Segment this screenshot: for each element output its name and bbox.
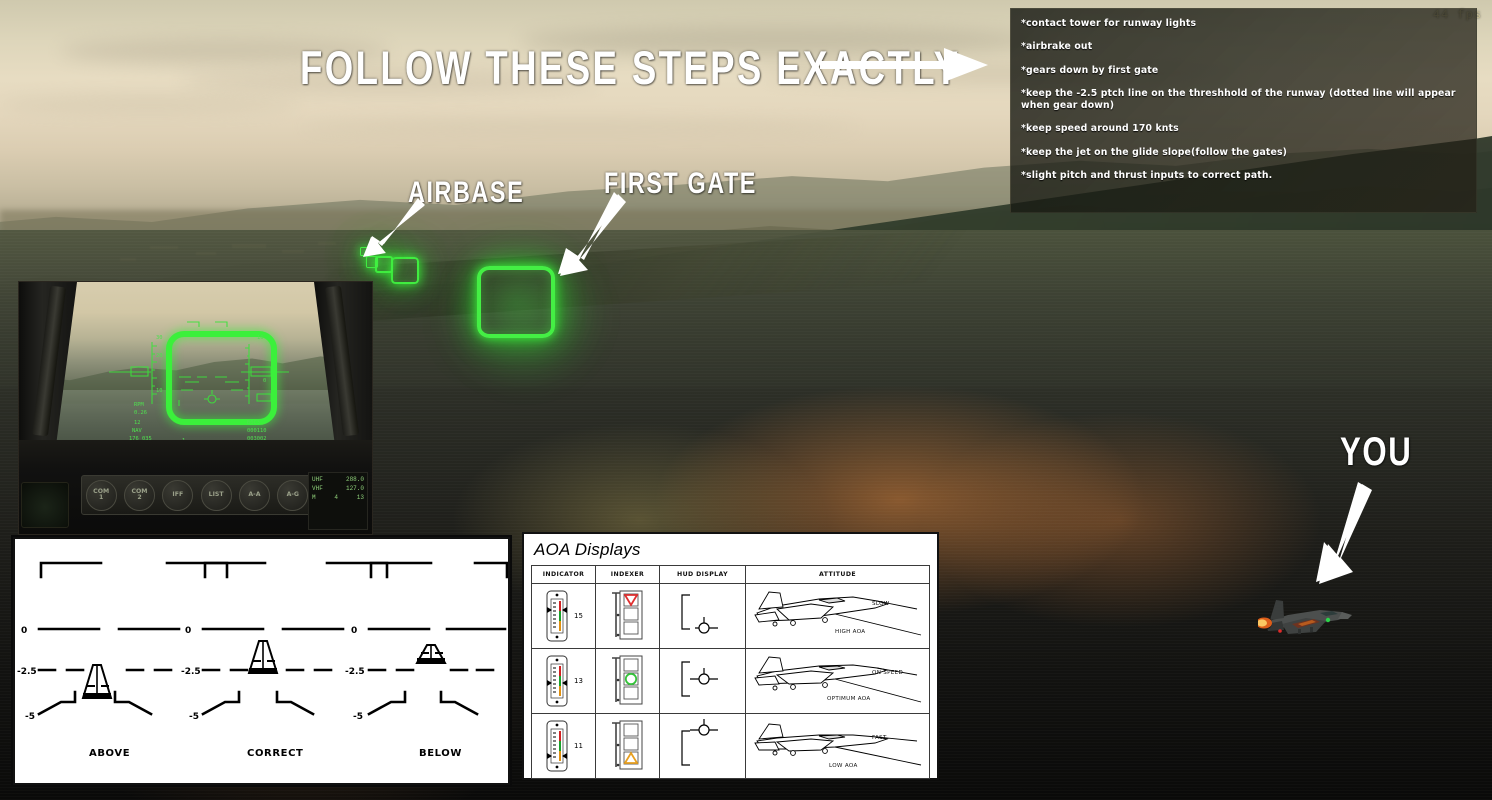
aoa-indexer-lights <box>608 717 648 771</box>
uhf-label: UHF <box>312 476 323 483</box>
svg-text:20: 20 <box>156 353 163 359</box>
annotation-airbase: AIRBASE <box>408 176 524 210</box>
aoa-indicator-cell: 13 <box>532 649 596 714</box>
svg-text:-5: -5 <box>353 712 363 722</box>
instruction-item: *contact tower for runway lights <box>1021 18 1466 30</box>
aoa-indicator-value: 11 <box>574 742 583 750</box>
aoa-indicator-cell: 15 <box>532 584 596 649</box>
nav-gate-4 <box>366 256 378 268</box>
aoa-panel-title: AOA Displays <box>534 540 930 560</box>
svg-text:-2.5: -2.5 <box>181 667 201 677</box>
cloud <box>0 96 300 114</box>
annotation-first-gate: FIRST GATE <box>604 167 757 201</box>
player-aircraft-f16 <box>1258 588 1354 650</box>
aoa-attitude-cell: FAST LOW AOA <box>746 714 930 779</box>
aoa-hud-bracket <box>668 717 738 771</box>
aoa-attitude-cell: ON SPEED OPTIMUM AOA <box>746 649 930 714</box>
aoa-table: INDICATOR INDEXER HUD DISPLAY ATTITUDE <box>531 565 930 779</box>
ufc-button-line1: A-A <box>248 492 260 499</box>
instruction-item: *keep speed around 170 knts <box>1021 123 1466 135</box>
glideslope-case-above: ABOVE <box>89 748 130 759</box>
aoa-displays-panel: AOA Displays INDICATOR INDEXER HUD DISPL… <box>522 532 939 780</box>
aoa-col-indicator: INDICATOR <box>532 566 596 584</box>
vhf-label: VHF <box>312 485 323 492</box>
nav-gate-5 <box>360 247 369 256</box>
aoa-indicator-cell: 11 <box>532 714 596 779</box>
aoa-indexer-cell <box>596 584 660 649</box>
aoa-indicator-gauge <box>544 590 570 642</box>
aoa-hud-bracket <box>668 652 738 706</box>
aoa-attitude-cell: SLOW HIGH AOA <box>746 584 930 649</box>
aoa-indexer-cell <box>596 714 660 779</box>
radio-mode-chan: 4 <box>334 494 338 501</box>
cloud <box>300 120 860 134</box>
ufc-button-com2[interactable]: COM 2 <box>124 480 155 511</box>
svg-text:0: 0 <box>185 626 191 636</box>
glideslope-case-below: BELOW <box>419 748 462 759</box>
attitude-primary-label: FAST <box>872 735 887 741</box>
attitude-secondary-label: HIGH AOA <box>835 629 865 635</box>
aoa-table-row: 15 <box>532 584 930 649</box>
aoa-table-header-row: INDICATOR INDEXER HUD DISPLAY ATTITUDE <box>532 566 930 584</box>
radio-mode-label: M <box>312 494 316 501</box>
svg-text:-2.5: -2.5 <box>17 667 37 677</box>
ufc-button-com1[interactable]: COM 1 <box>86 480 117 511</box>
aoa-indicator-value: 15 <box>574 612 583 620</box>
runway-symbol-above <box>83 665 111 698</box>
nav-gate-2 <box>391 257 419 284</box>
nav-gate-first <box>477 266 555 338</box>
glideslope-diagram-panel: 0 0 0 -2.5 -2.5 -2.5 -5 -5 -5 ABOVE CORR… <box>13 537 510 785</box>
annotation-you: YOU <box>1340 430 1412 475</box>
ufc-button-line2: 2 <box>137 495 141 502</box>
svg-text:0: 0 <box>21 626 27 636</box>
svg-text:RPM: RPM <box>134 402 144 408</box>
aoa-indicator-value: 13 <box>574 677 583 685</box>
instruction-item: *slight pitch and thrust inputs to corre… <box>1021 170 1466 182</box>
attitude-primary-label: ON SPEED <box>872 670 903 676</box>
glideslope-case-correct: CORRECT <box>247 748 303 759</box>
aoa-indexer-cell <box>596 649 660 714</box>
instruction-item: *airbrake out <box>1021 41 1466 53</box>
aoa-hud-cell <box>660 584 746 649</box>
left-mfd[interactable] <box>21 482 69 528</box>
aoa-hud-cell <box>660 649 746 714</box>
aoa-indicator-gauge <box>544 655 570 707</box>
svg-text:10: 10 <box>156 388 163 394</box>
ufc-button-iff[interactable]: IFF <box>162 480 193 511</box>
instruction-item: *keep the -2.5 ptch line on the threshho… <box>1021 88 1466 113</box>
aoa-table-row: 13 <box>532 649 930 714</box>
svg-text:0: 0 <box>263 378 266 384</box>
aoa-hud-bracket <box>668 587 738 641</box>
ufc-keypad: COM 1 COM 2 IFF LIST A-A A-G <box>81 475 313 515</box>
svg-text:NAV: NAV <box>132 428 142 434</box>
glideslope-diagram: 0 0 0 -2.5 -2.5 -2.5 -5 -5 -5 <box>15 539 508 783</box>
runway-symbol-below <box>417 645 445 663</box>
svg-text:10: 10 <box>257 335 264 341</box>
svg-text:B0C3: B0C3 <box>247 420 260 426</box>
svg-text:-2.5: -2.5 <box>345 667 365 677</box>
radio-mode-value: 13 <box>357 494 364 501</box>
ufc-button-line1: IFF <box>172 492 183 499</box>
ufc-button-list[interactable]: LIST <box>201 480 232 511</box>
aoa-indexer-lights <box>608 587 648 641</box>
attitude-secondary-label: LOW AOA <box>829 763 858 769</box>
aoa-indexer-lights <box>608 652 648 706</box>
aoa-indicator-gauge <box>544 720 570 772</box>
svg-text:-5: -5 <box>25 712 35 722</box>
radio-display: UHF 288.0 VHF 127.0 M 4 13 <box>308 472 368 530</box>
aoa-col-indexer: INDEXER <box>596 566 660 584</box>
runway-symbol-correct <box>249 641 277 673</box>
ufc-button-line1: A-G <box>287 492 299 499</box>
svg-text:0: 0 <box>351 626 357 636</box>
svg-text:30: 30 <box>156 335 163 341</box>
annotation-title: FOLLOW THESE STEPS EXACTLY <box>300 40 960 95</box>
ufc-button-line2: 1 <box>99 495 103 502</box>
svg-text:12: 12 <box>134 420 141 426</box>
attitude-secondary-label: OPTIMUM AOA <box>827 696 871 702</box>
instructions-panel: *contact tower for runway lights *airbra… <box>1010 8 1477 213</box>
cockpit-inset: 30 20 10 10 0 RPM 0.26 12 NAV 176 035 B0… <box>18 281 373 535</box>
ufc-button-line1: LIST <box>209 492 224 499</box>
aoa-col-hud-display: HUD DISPLAY <box>660 566 746 584</box>
aoa-table-row: 11 <box>532 714 930 779</box>
ufc-button-ag[interactable]: A-G <box>277 480 308 511</box>
game-screenshot: 44 fps *contact tower for runway lights … <box>0 0 1492 800</box>
uhf-value: 288.0 <box>346 476 364 483</box>
instruction-item: *keep the jet on the glide slope(follow … <box>1021 147 1466 159</box>
svg-text:-5: -5 <box>189 712 199 722</box>
instruction-item: *gears down by first gate <box>1021 65 1466 77</box>
attitude-primary-label: SLOW <box>872 601 890 607</box>
aoa-hud-cell <box>660 714 746 779</box>
svg-text:0.26: 0.26 <box>134 410 147 416</box>
aoa-col-attitude: ATTITUDE <box>746 566 930 584</box>
svg-text:000110: 000110 <box>247 428 266 434</box>
ufc-button-aa[interactable]: A-A <box>239 480 270 511</box>
vhf-value: 127.0 <box>346 485 364 492</box>
